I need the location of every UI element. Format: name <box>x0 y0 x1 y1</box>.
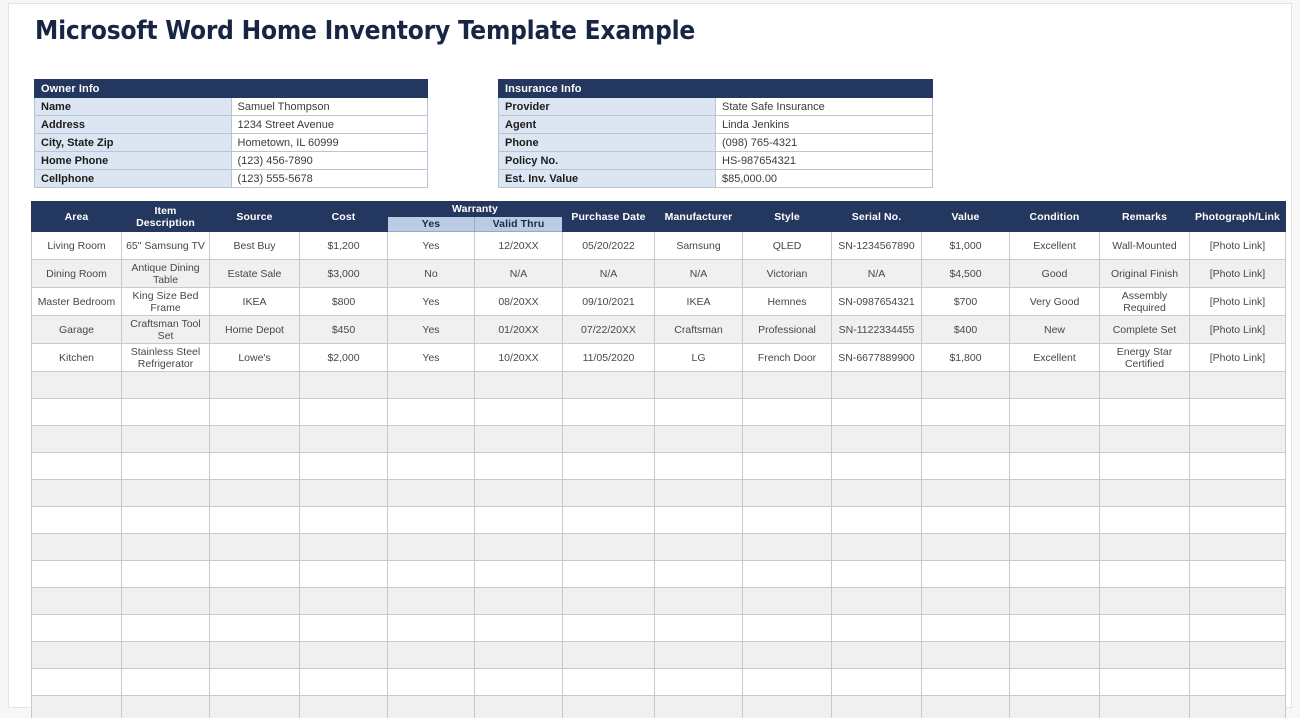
cell-source[interactable]: Best Buy <box>210 232 300 260</box>
cell-empty-manufacturer[interactable] <box>655 372 743 399</box>
cell-empty-manufacturer[interactable] <box>655 480 743 507</box>
cell-empty-remarks[interactable] <box>1100 615 1190 642</box>
cell-empty-item-description[interactable] <box>122 588 210 615</box>
cell-empty-warranty-yes[interactable] <box>388 534 475 561</box>
cell-value[interactable]: $4,500 <box>922 260 1010 288</box>
cell-empty-manufacturer[interactable] <box>655 561 743 588</box>
cell-value[interactable]: $1,000 <box>922 232 1010 260</box>
cell-empty-serial-no[interactable] <box>832 642 922 669</box>
cell-empty-source[interactable] <box>210 588 300 615</box>
cell-warranty-yes[interactable]: No <box>388 260 475 288</box>
cell-warranty-valid-thru[interactable]: 08/20XX <box>475 288 563 316</box>
cell-empty-photograph-link[interactable] <box>1190 696 1286 718</box>
cell-empty-cost[interactable] <box>300 372 388 399</box>
cell-empty-photograph-link[interactable] <box>1190 588 1286 615</box>
cell-empty-warranty-yes[interactable] <box>388 642 475 669</box>
cell-photograph-link[interactable]: [Photo Link] <box>1190 316 1286 344</box>
cell-empty-purchase-date[interactable] <box>563 615 655 642</box>
cell-empty-value[interactable] <box>922 669 1010 696</box>
table-row: Dining RoomAntique Dining TableEstate Sa… <box>32 260 1286 288</box>
cell-empty-source[interactable] <box>210 669 300 696</box>
cell-empty-remarks[interactable] <box>1100 696 1190 718</box>
cell-empty-area[interactable] <box>32 480 122 507</box>
cell-purchase-date[interactable]: 07/22/20XX <box>563 316 655 344</box>
cell-purchase-date[interactable]: 09/10/2021 <box>563 288 655 316</box>
cell-empty-manufacturer[interactable] <box>655 426 743 453</box>
cell-empty-warranty-valid-thru[interactable] <box>475 507 563 534</box>
owner-label-address: Address <box>35 116 232 134</box>
cell-remarks[interactable]: Complete Set <box>1100 316 1190 344</box>
cell-warranty-valid-thru[interactable]: N/A <box>475 260 563 288</box>
cell-empty-warranty-yes[interactable] <box>388 399 475 426</box>
owner-value-address[interactable]: 1234 Street Avenue <box>231 116 428 134</box>
cell-empty-style[interactable] <box>743 642 832 669</box>
cell-condition[interactable]: Excellent <box>1010 344 1100 372</box>
cell-empty-warranty-yes[interactable] <box>388 696 475 718</box>
insurance-value-phone[interactable]: (098) 765-4321 <box>716 134 933 152</box>
cell-empty-warranty-yes[interactable] <box>388 615 475 642</box>
cell-empty-photograph-link[interactable] <box>1190 372 1286 399</box>
cell-empty-warranty-valid-thru[interactable] <box>475 561 563 588</box>
cell-empty-manufacturer[interactable] <box>655 615 743 642</box>
cell-empty-condition[interactable] <box>1010 615 1100 642</box>
cell-empty-remarks[interactable] <box>1100 399 1190 426</box>
cell-manufacturer[interactable]: LG <box>655 344 743 372</box>
cell-source[interactable]: Lowe's <box>210 344 300 372</box>
cell-empty-area[interactable] <box>32 588 122 615</box>
cell-empty-photograph-link[interactable] <box>1190 669 1286 696</box>
cell-value[interactable]: $400 <box>922 316 1010 344</box>
cell-empty-warranty-yes[interactable] <box>388 669 475 696</box>
cell-empty-remarks[interactable] <box>1100 561 1190 588</box>
table-row-empty <box>32 426 1286 453</box>
cell-empty-purchase-date[interactable] <box>563 399 655 426</box>
cell-empty-purchase-date[interactable] <box>563 372 655 399</box>
cell-empty-value[interactable] <box>922 561 1010 588</box>
table-row-empty <box>32 642 1286 669</box>
insurance-value-provider[interactable]: State Safe Insurance <box>716 98 933 116</box>
cell-empty-serial-no[interactable] <box>832 561 922 588</box>
cell-empty-purchase-date[interactable] <box>563 669 655 696</box>
cell-value[interactable]: $700 <box>922 288 1010 316</box>
col-header-photograph-link[interactable]: Photograph/Link <box>1190 202 1286 232</box>
cell-empty-value[interactable] <box>922 480 1010 507</box>
cell-empty-style[interactable] <box>743 534 832 561</box>
cell-empty-source[interactable] <box>210 561 300 588</box>
cell-empty-serial-no[interactable] <box>832 507 922 534</box>
cell-empty-source[interactable] <box>210 642 300 669</box>
cell-photograph-link[interactable]: [Photo Link] <box>1190 260 1286 288</box>
cell-empty-value[interactable] <box>922 588 1010 615</box>
cell-item-description[interactable]: 65" Samsung TV <box>122 232 210 260</box>
cell-empty-value[interactable] <box>922 696 1010 718</box>
cell-empty-manufacturer[interactable] <box>655 534 743 561</box>
cell-empty-remarks[interactable] <box>1100 669 1190 696</box>
cell-empty-warranty-valid-thru[interactable] <box>475 615 563 642</box>
cell-value[interactable]: $1,800 <box>922 344 1010 372</box>
cell-area[interactable]: Kitchen <box>32 344 122 372</box>
cell-remarks[interactable]: Assembly Required <box>1100 288 1190 316</box>
cell-empty-purchase-date[interactable] <box>563 453 655 480</box>
cell-purchase-date[interactable]: 05/20/2022 <box>563 232 655 260</box>
cell-empty-source[interactable] <box>210 426 300 453</box>
cell-empty-condition[interactable] <box>1010 399 1100 426</box>
cell-empty-cost[interactable] <box>300 642 388 669</box>
cell-remarks[interactable]: Energy Star Certified <box>1100 344 1190 372</box>
cell-empty-warranty-yes[interactable] <box>388 588 475 615</box>
owner-value-cellphone[interactable]: (123) 555-5678 <box>231 170 428 188</box>
cell-empty-warranty-yes[interactable] <box>388 507 475 534</box>
cell-empty-remarks[interactable] <box>1100 588 1190 615</box>
table-row: Living Room65" Samsung TVBest Buy$1,200Y… <box>32 232 1286 260</box>
cell-empty-area[interactable] <box>32 615 122 642</box>
cell-empty-manufacturer[interactable] <box>655 588 743 615</box>
owner-value-home-phone[interactable]: (123) 456-7890 <box>231 152 428 170</box>
cell-condition[interactable]: Good <box>1010 260 1100 288</box>
cell-empty-purchase-date[interactable] <box>563 561 655 588</box>
cell-area[interactable]: Garage <box>32 316 122 344</box>
cell-empty-item-description[interactable] <box>122 534 210 561</box>
cell-empty-area[interactable] <box>32 399 122 426</box>
cell-empty-serial-no[interactable] <box>832 453 922 480</box>
cell-empty-warranty-yes[interactable] <box>388 453 475 480</box>
cell-item-description[interactable]: Stainless Steel Refrigerator <box>122 344 210 372</box>
cell-empty-area[interactable] <box>32 372 122 399</box>
cell-serial-no[interactable]: SN-1234567890 <box>832 232 922 260</box>
cell-empty-value[interactable] <box>922 642 1010 669</box>
col-header-source[interactable]: Source <box>210 202 300 232</box>
cell-empty-condition[interactable] <box>1010 696 1100 718</box>
cell-empty-style[interactable] <box>743 480 832 507</box>
cell-empty-condition[interactable] <box>1010 561 1100 588</box>
cell-empty-serial-no[interactable] <box>832 615 922 642</box>
cell-empty-cost[interactable] <box>300 534 388 561</box>
owner-info-table: Owner Info Name Samuel Thompson Address … <box>34 79 428 188</box>
cell-empty-manufacturer[interactable] <box>655 507 743 534</box>
cell-manufacturer[interactable]: Craftsman <box>655 316 743 344</box>
cell-photograph-link[interactable]: [Photo Link] <box>1190 288 1286 316</box>
owner-info-row: Home Phone (123) 456-7890 <box>35 152 428 170</box>
cell-source[interactable]: Estate Sale <box>210 260 300 288</box>
owner-label-cellphone: Cellphone <box>35 170 232 188</box>
cell-empty-warranty-valid-thru[interactable] <box>475 372 563 399</box>
cell-empty-style[interactable] <box>743 399 832 426</box>
col-header-warranty-valid-thru[interactable]: Valid Thru <box>475 217 563 232</box>
cell-empty-serial-no[interactable] <box>832 669 922 696</box>
cell-empty-style[interactable] <box>743 615 832 642</box>
cell-warranty-yes[interactable]: Yes <box>388 232 475 260</box>
page-title: Microsoft Word Home Inventory Template E… <box>35 16 695 46</box>
cell-empty-area[interactable] <box>32 669 122 696</box>
cell-empty-condition[interactable] <box>1010 507 1100 534</box>
cell-photograph-link[interactable]: [Photo Link] <box>1190 232 1286 260</box>
cell-empty-warranty-valid-thru[interactable] <box>475 453 563 480</box>
cell-empty-item-description[interactable] <box>122 372 210 399</box>
insurance-value-agent[interactable]: Linda Jenkins <box>716 116 933 134</box>
owner-value-name[interactable]: Samuel Thompson <box>231 98 428 116</box>
cell-empty-photograph-link[interactable] <box>1190 399 1286 426</box>
cell-empty-cost[interactable] <box>300 588 388 615</box>
inventory-table-head: Area Item Description Source Cost Warran… <box>32 202 1286 232</box>
cell-condition[interactable]: Very Good <box>1010 288 1100 316</box>
cell-warranty-valid-thru[interactable]: 12/20XX <box>475 232 563 260</box>
cell-empty-cost[interactable] <box>300 507 388 534</box>
cell-empty-cost[interactable] <box>300 561 388 588</box>
cell-empty-serial-no[interactable] <box>832 480 922 507</box>
cell-empty-item-description[interactable] <box>122 399 210 426</box>
cell-item-description[interactable]: King Size Bed Frame <box>122 288 210 316</box>
cell-empty-manufacturer[interactable] <box>655 642 743 669</box>
cell-empty-photograph-link[interactable] <box>1190 534 1286 561</box>
cell-style[interactable]: Victorian <box>743 260 832 288</box>
cell-empty-warranty-valid-thru[interactable] <box>475 480 563 507</box>
cell-empty-remarks[interactable] <box>1100 426 1190 453</box>
cell-serial-no[interactable]: SN-0987654321 <box>832 288 922 316</box>
cell-remarks[interactable]: Wall-Mounted <box>1100 232 1190 260</box>
cell-cost[interactable]: $2,000 <box>300 344 388 372</box>
cell-empty-item-description[interactable] <box>122 696 210 718</box>
col-header-value[interactable]: Value <box>922 202 1010 232</box>
insurance-value-est-inv-value[interactable]: $85,000.00 <box>716 170 933 188</box>
cell-empty-cost[interactable] <box>300 453 388 480</box>
cell-warranty-yes[interactable]: Yes <box>388 344 475 372</box>
col-header-purchase-date[interactable]: Purchase Date <box>563 202 655 232</box>
cell-empty-photograph-link[interactable] <box>1190 561 1286 588</box>
cell-empty-cost[interactable] <box>300 480 388 507</box>
cell-empty-source[interactable] <box>210 453 300 480</box>
cell-area[interactable]: Master Bedroom <box>32 288 122 316</box>
cell-style[interactable]: Hemnes <box>743 288 832 316</box>
cell-empty-purchase-date[interactable] <box>563 534 655 561</box>
col-header-area[interactable]: Area <box>32 202 122 232</box>
cell-empty-condition[interactable] <box>1010 426 1100 453</box>
col-header-warranty-yes[interactable]: Yes <box>388 217 475 232</box>
cell-photograph-link[interactable]: [Photo Link] <box>1190 344 1286 372</box>
cell-empty-area[interactable] <box>32 426 122 453</box>
owner-info-row: Cellphone (123) 555-5678 <box>35 170 428 188</box>
cell-empty-condition[interactable] <box>1010 372 1100 399</box>
cell-empty-source[interactable] <box>210 372 300 399</box>
cell-empty-item-description[interactable] <box>122 669 210 696</box>
col-header-serial-no[interactable]: Serial No. <box>832 202 922 232</box>
cell-empty-remarks[interactable] <box>1100 372 1190 399</box>
cell-empty-purchase-date[interactable] <box>563 696 655 718</box>
cell-serial-no[interactable]: N/A <box>832 260 922 288</box>
cell-empty-serial-no[interactable] <box>832 588 922 615</box>
cell-empty-purchase-date[interactable] <box>563 507 655 534</box>
insurance-info-body: Insurance Info Provider State Safe Insur… <box>499 80 933 188</box>
cell-empty-value[interactable] <box>922 426 1010 453</box>
cell-empty-cost[interactable] <box>300 399 388 426</box>
cell-empty-style[interactable] <box>743 507 832 534</box>
cell-empty-photograph-link[interactable] <box>1190 507 1286 534</box>
cell-empty-value[interactable] <box>922 372 1010 399</box>
cell-empty-item-description[interactable] <box>122 507 210 534</box>
cell-empty-value[interactable] <box>922 615 1010 642</box>
cell-empty-serial-no[interactable] <box>832 696 922 718</box>
cell-empty-source[interactable] <box>210 399 300 426</box>
cell-empty-remarks[interactable] <box>1100 480 1190 507</box>
col-header-remarks[interactable]: Remarks <box>1100 202 1190 232</box>
cell-manufacturer[interactable]: IKEA <box>655 288 743 316</box>
cell-empty-remarks[interactable] <box>1100 453 1190 480</box>
col-header-item-description[interactable]: Item Description <box>122 202 210 232</box>
cell-serial-no[interactable]: SN-6677889900 <box>832 344 922 372</box>
cell-area[interactable]: Dining Room <box>32 260 122 288</box>
cell-empty-warranty-valid-thru[interactable] <box>475 696 563 718</box>
cell-empty-purchase-date[interactable] <box>563 480 655 507</box>
document-sheet: Microsoft Word Home Inventory Template E… <box>8 3 1292 708</box>
cell-empty-manufacturer[interactable] <box>655 696 743 718</box>
insurance-value-policy-no[interactable]: HS-987654321 <box>716 152 933 170</box>
cell-empty-area[interactable] <box>32 453 122 480</box>
cell-empty-source[interactable] <box>210 480 300 507</box>
cell-purchase-date[interactable]: 11/05/2020 <box>563 344 655 372</box>
insurance-label-provider: Provider <box>499 98 716 116</box>
col-header-cost[interactable]: Cost <box>300 202 388 232</box>
cell-empty-cost[interactable] <box>300 696 388 718</box>
cell-empty-condition[interactable] <box>1010 588 1100 615</box>
cell-empty-area[interactable] <box>32 696 122 718</box>
insurance-label-policy-no: Policy No. <box>499 152 716 170</box>
cell-source[interactable]: IKEA <box>210 288 300 316</box>
cell-cost[interactable]: $3,000 <box>300 260 388 288</box>
cell-empty-warranty-valid-thru[interactable] <box>475 642 563 669</box>
cell-condition[interactable]: Excellent <box>1010 232 1100 260</box>
cell-empty-style[interactable] <box>743 426 832 453</box>
cell-empty-area[interactable] <box>32 507 122 534</box>
cell-empty-warranty-yes[interactable] <box>388 480 475 507</box>
cell-warranty-valid-thru[interactable]: 10/20XX <box>475 344 563 372</box>
cell-warranty-valid-thru[interactable]: 01/20XX <box>475 316 563 344</box>
cell-empty-photograph-link[interactable] <box>1190 615 1286 642</box>
table-row-empty <box>32 561 1286 588</box>
cell-empty-photograph-link[interactable] <box>1190 480 1286 507</box>
cell-empty-cost[interactable] <box>300 615 388 642</box>
cell-empty-remarks[interactable] <box>1100 507 1190 534</box>
cell-warranty-yes[interactable]: Yes <box>388 316 475 344</box>
table-row-empty <box>32 372 1286 399</box>
cell-manufacturer[interactable]: Samsung <box>655 232 743 260</box>
cell-purchase-date[interactable]: N/A <box>563 260 655 288</box>
cell-empty-warranty-valid-thru[interactable] <box>475 669 563 696</box>
col-header-warranty[interactable]: Warranty <box>388 202 563 217</box>
cell-empty-item-description[interactable] <box>122 561 210 588</box>
owner-info-row: Address 1234 Street Avenue <box>35 116 428 134</box>
cell-empty-area[interactable] <box>32 642 122 669</box>
cell-empty-style[interactable] <box>743 453 832 480</box>
cell-empty-purchase-date[interactable] <box>563 426 655 453</box>
cell-empty-cost[interactable] <box>300 426 388 453</box>
cell-cost[interactable]: $1,200 <box>300 232 388 260</box>
cell-empty-style[interactable] <box>743 588 832 615</box>
cell-empty-source[interactable] <box>210 534 300 561</box>
cell-condition[interactable]: New <box>1010 316 1100 344</box>
cell-empty-warranty-yes[interactable] <box>388 561 475 588</box>
cell-empty-item-description[interactable] <box>122 615 210 642</box>
cell-empty-purchase-date[interactable] <box>563 642 655 669</box>
cell-empty-style[interactable] <box>743 372 832 399</box>
cell-empty-serial-no[interactable] <box>832 426 922 453</box>
cell-empty-cost[interactable] <box>300 669 388 696</box>
cell-empty-item-description[interactable] <box>122 480 210 507</box>
cell-empty-serial-no[interactable] <box>832 399 922 426</box>
cell-empty-manufacturer[interactable] <box>655 453 743 480</box>
cell-empty-item-description[interactable] <box>122 453 210 480</box>
cell-cost[interactable]: $450 <box>300 316 388 344</box>
cell-empty-source[interactable] <box>210 507 300 534</box>
cell-empty-warranty-yes[interactable] <box>388 372 475 399</box>
cell-empty-warranty-valid-thru[interactable] <box>475 588 563 615</box>
cell-style[interactable]: Professional <box>743 316 832 344</box>
owner-value-city-state-zip[interactable]: Hometown, IL 60999 <box>231 134 428 152</box>
cell-empty-item-description[interactable] <box>122 426 210 453</box>
cell-empty-condition[interactable] <box>1010 534 1100 561</box>
cell-empty-value[interactable] <box>922 453 1010 480</box>
cell-empty-condition[interactable] <box>1010 480 1100 507</box>
cell-empty-value[interactable] <box>922 399 1010 426</box>
cell-empty-photograph-link[interactable] <box>1190 453 1286 480</box>
cell-empty-condition[interactable] <box>1010 453 1100 480</box>
cell-empty-purchase-date[interactable] <box>563 588 655 615</box>
cell-empty-photograph-link[interactable] <box>1190 426 1286 453</box>
cell-style[interactable]: French Door <box>743 344 832 372</box>
cell-empty-manufacturer[interactable] <box>655 669 743 696</box>
col-header-manufacturer[interactable]: Manufacturer <box>655 202 743 232</box>
insurance-info-row: Phone (098) 765-4321 <box>499 134 933 152</box>
cell-empty-serial-no[interactable] <box>832 534 922 561</box>
table-row-empty <box>32 453 1286 480</box>
cell-cost[interactable]: $800 <box>300 288 388 316</box>
cell-source[interactable]: Home Depot <box>210 316 300 344</box>
cell-empty-style[interactable] <box>743 669 832 696</box>
insurance-info-row: Agent Linda Jenkins <box>499 116 933 134</box>
cell-empty-remarks[interactable] <box>1100 534 1190 561</box>
cell-empty-item-description[interactable] <box>122 642 210 669</box>
cell-empty-warranty-valid-thru[interactable] <box>475 399 563 426</box>
cell-area[interactable]: Living Room <box>32 232 122 260</box>
cell-style[interactable]: QLED <box>743 232 832 260</box>
cell-empty-remarks[interactable] <box>1100 642 1190 669</box>
cell-empty-condition[interactable] <box>1010 642 1100 669</box>
cell-empty-area[interactable] <box>32 561 122 588</box>
cell-manufacturer[interactable]: N/A <box>655 260 743 288</box>
cell-empty-warranty-valid-thru[interactable] <box>475 426 563 453</box>
cell-empty-value[interactable] <box>922 507 1010 534</box>
cell-empty-style[interactable] <box>743 696 832 718</box>
cell-empty-area[interactable] <box>32 534 122 561</box>
owner-info-heading-row: Owner Info <box>35 80 428 98</box>
col-header-condition[interactable]: Condition <box>1010 202 1100 232</box>
cell-serial-no[interactable]: SN-1122334455 <box>832 316 922 344</box>
cell-empty-serial-no[interactable] <box>832 372 922 399</box>
cell-item-description[interactable]: Craftsman Tool Set <box>122 316 210 344</box>
cell-item-description[interactable]: Antique Dining Table <box>122 260 210 288</box>
cell-empty-value[interactable] <box>922 534 1010 561</box>
cell-empty-source[interactable] <box>210 696 300 718</box>
cell-remarks[interactable]: Original Finish <box>1100 260 1190 288</box>
cell-empty-source[interactable] <box>210 615 300 642</box>
cell-warranty-yes[interactable]: Yes <box>388 288 475 316</box>
cell-empty-condition[interactable] <box>1010 669 1100 696</box>
insurance-info-row: Provider State Safe Insurance <box>499 98 933 116</box>
cell-empty-manufacturer[interactable] <box>655 399 743 426</box>
cell-empty-style[interactable] <box>743 561 832 588</box>
col-header-style[interactable]: Style <box>743 202 832 232</box>
cell-empty-photograph-link[interactable] <box>1190 642 1286 669</box>
cell-empty-warranty-yes[interactable] <box>388 426 475 453</box>
cell-empty-warranty-valid-thru[interactable] <box>475 534 563 561</box>
